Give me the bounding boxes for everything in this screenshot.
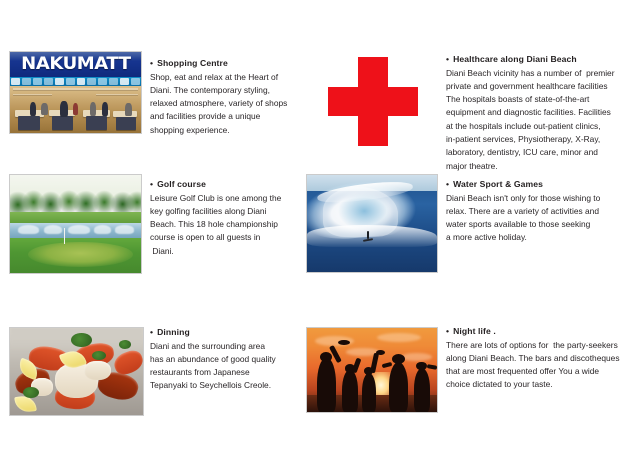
healthcare-body: Diani Beach vicinity has a number of pre… (446, 67, 639, 173)
red-cross-icon (328, 57, 418, 146)
wave-foam (307, 225, 437, 246)
dancer-silhouette (342, 370, 358, 412)
golf-course-body: Leisure Golf Club is one among the key g… (150, 192, 300, 258)
shopping-centre-heading: •Shopping Centre (150, 57, 300, 70)
surfing-wave-photo (307, 175, 437, 272)
water-sport-body: Diani Beach isn't only for those wishing… (446, 192, 639, 245)
nakumatt-supermarket-photo: NAKUMATT (10, 52, 141, 133)
store-interior (10, 86, 141, 133)
dancer-silhouette (389, 362, 409, 412)
shopping-centre-body: Shop, eat and relax at the Heart of Dian… (150, 71, 300, 137)
dancer-silhouette (317, 358, 335, 412)
dancer-silhouette (414, 368, 431, 412)
night-life-heading: •Night life . (446, 325, 639, 338)
aisle-sign-band (10, 77, 141, 86)
shopping-centre-text: •Shopping Centre Shop, eat and relax at … (150, 57, 300, 137)
water-sport-heading: •Water Sport & Games (446, 178, 639, 191)
healthcare-text: •Healthcare along Diani Beach Diani Beac… (446, 53, 639, 173)
dinning-text: •Dinning Diani and the surrounding area … (150, 326, 300, 393)
golf-course-heading: •Golf course (150, 178, 300, 191)
red-cross-vertical-bar (358, 57, 388, 146)
night-life-body: There are lots of options for the party-… (446, 339, 639, 392)
surfer-figure (367, 231, 369, 239)
slide-canvas: NAKUMATT •Shopping Centre Shop, eat and … (0, 0, 639, 450)
golf-course-text: •Golf course Leisure Golf Club is one am… (150, 178, 300, 258)
nakumatt-sign-text: NAKUMATT (10, 55, 141, 73)
golf-course-photo (10, 175, 141, 273)
bullet-glyph: • (446, 178, 449, 191)
healthcare-heading: •Healthcare along Diani Beach (446, 53, 639, 66)
bullet-glyph: • (446, 53, 449, 66)
dinning-body: Diani and the surrounding area has an ab… (150, 340, 300, 393)
dancer-silhouette (362, 373, 376, 412)
bullet-glyph: • (446, 325, 449, 338)
night-life-text: •Night life . There are lots of options … (446, 325, 639, 392)
seafood-platter-photo (10, 328, 143, 415)
golf-treeline (10, 183, 141, 214)
bullet-glyph: • (150, 178, 153, 191)
water-sport-text: •Water Sport & Games Diani Beach isn't o… (446, 178, 639, 245)
golf-flagstick (64, 228, 65, 244)
dinning-heading: •Dinning (150, 326, 300, 339)
nightlife-silhouettes-photo (307, 328, 437, 412)
bullet-glyph: • (150, 326, 153, 339)
bullet-glyph: • (150, 57, 153, 70)
golf-putting-green (10, 238, 141, 273)
